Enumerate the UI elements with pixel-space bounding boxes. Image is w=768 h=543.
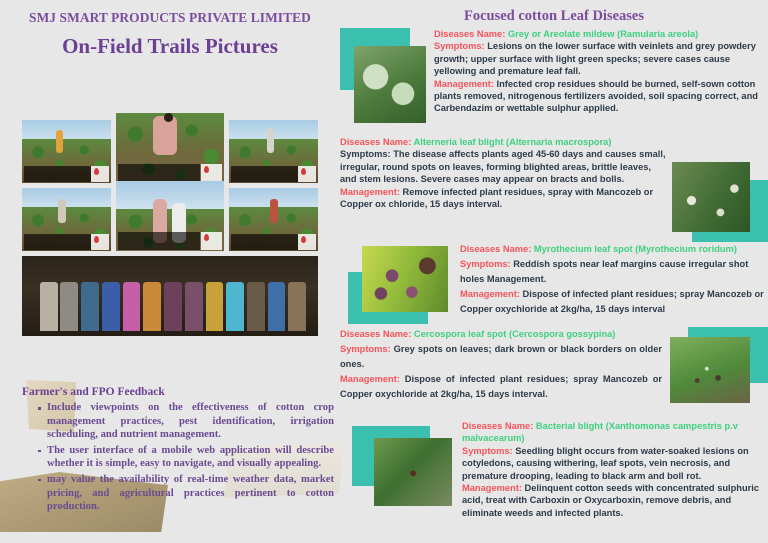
disease-name-value: Grey or Areolate mildew (Ramularia areol… — [508, 29, 698, 39]
disease-name-line: Diseases Name: Myrothecium leaf spot (My… — [460, 242, 768, 257]
person-figure — [185, 282, 203, 332]
label-diseases-name: Diseases Name: — [434, 29, 505, 39]
management-line: Management: Infected crop residues shoul… — [434, 78, 768, 115]
disease-name-line: Diseases Name: Grey or Areolate mildew (… — [434, 28, 768, 40]
disease-name-value: Cercospora leaf spot (Cercospora gossypi… — [414, 329, 616, 339]
list-item: The user interface of a mobile web appli… — [38, 444, 334, 471]
leaf-image — [362, 246, 448, 312]
page-title: On-Field Trails Pictures — [0, 34, 340, 59]
gps-stamp-icon — [298, 166, 316, 182]
feedback-heading: Farmer's and FPO Feedback — [22, 386, 334, 398]
person-figure — [60, 282, 78, 332]
person-figure — [226, 282, 244, 332]
group-photo — [22, 256, 318, 336]
list-item: Include viewpoints on the effectiveness … — [38, 401, 334, 442]
geotag-caption — [24, 234, 91, 250]
field-photo-6 — [229, 188, 318, 251]
label-diseases-name: Diseases Name: — [460, 244, 531, 254]
disease-text: Diseases Name: Myrothecium leaf spot (My… — [460, 242, 768, 317]
field-photo-2 — [116, 113, 224, 183]
label-symptoms: Symptoms: — [340, 149, 391, 159]
disease-photo-myrothecium — [348, 242, 450, 324]
disease-text: Diseases Name: Grey or Areolate mildew (… — [434, 28, 768, 115]
gps-stamp-icon — [201, 232, 223, 250]
management-line: Management: Dispose of infected plant re… — [460, 287, 768, 317]
symptoms-line: Symptoms: Seedling blight occurs from wa… — [462, 445, 768, 482]
field-photo-3 — [229, 120, 318, 183]
leaf-image — [354, 46, 426, 123]
slide-canvas: SMJ SMART PRODUCTS PRIVATE LIMITED On-Fi… — [0, 0, 768, 543]
person-figure — [267, 128, 275, 153]
disease-text: Diseases Name: Bacterial blight (Xanthom… — [462, 420, 768, 519]
leaf-image — [670, 337, 750, 403]
disease-block-bacterial-blight: Diseases Name: Bacterial blight (Xanthom… — [340, 420, 768, 519]
person-figure — [268, 282, 286, 332]
person-figure — [102, 282, 120, 332]
list-item: may value the availability of real-time … — [38, 473, 334, 514]
disease-photo-bacterial-blight — [352, 426, 452, 512]
symptoms-line: Symptoms: The disease affects plants age… — [340, 148, 666, 185]
label-symptoms: Symptoms: — [340, 344, 391, 354]
person-figure — [153, 116, 177, 155]
label-management: Management: — [434, 79, 494, 89]
geotag-caption — [231, 166, 298, 182]
gps-stamp-icon — [298, 234, 316, 250]
disease-photo-alternaria — [672, 162, 768, 242]
field-photo-grid — [22, 120, 318, 341]
disease-name-value: Myrothecium leaf spot (Myrothecium rorid… — [534, 244, 737, 254]
disease-name-line: Diseases Name: Alterneria leaf blight (A… — [340, 136, 666, 148]
person-figure — [40, 282, 58, 332]
geotag-caption — [231, 234, 298, 250]
section-title: Focused cotton Leaf Diseases — [340, 8, 768, 25]
disease-block-cercospora: Diseases Name: Cercospora leaf spot (Cer… — [340, 327, 768, 409]
label-symptoms: Symptoms: — [460, 259, 511, 269]
label-symptoms: Symptoms: — [434, 41, 485, 51]
disease-name-line: Diseases Name: Cercospora leaf spot (Cer… — [340, 327, 662, 342]
person-figure — [288, 282, 306, 332]
label-diseases-name: Diseases Name: — [340, 329, 411, 339]
person-figure — [58, 199, 66, 223]
person-figure — [164, 282, 182, 332]
photo-row-1 — [22, 120, 318, 183]
gps-stamp-icon — [91, 234, 109, 250]
feedback-list: Include viewpoints on the effectiveness … — [22, 401, 334, 514]
photo-row-3 — [22, 256, 318, 336]
gps-stamp-icon — [91, 166, 109, 182]
person-figure — [270, 199, 278, 223]
person-figure — [206, 282, 224, 332]
feedback-section: Farmer's and FPO Feedback Include viewpo… — [22, 386, 334, 526]
field-photo-4 — [22, 188, 111, 251]
photo-row-2 — [22, 188, 318, 251]
sky-band — [116, 181, 224, 210]
person-figure — [247, 282, 265, 332]
person-figure — [56, 130, 63, 153]
geotag-caption — [118, 232, 201, 250]
label-management: Management: — [460, 289, 520, 299]
person-figure — [123, 282, 141, 332]
left-column: SMJ SMART PRODUCTS PRIVATE LIMITED On-Fi… — [0, 0, 340, 543]
management-line: Management: Remove infected plant residu… — [340, 186, 666, 211]
disease-text: Diseases Name: Alterneria leaf blight (A… — [340, 136, 666, 210]
gps-stamp-icon — [201, 164, 223, 182]
label-diseases-name: Diseases Name: — [340, 137, 411, 147]
disease-block-grey-mildew: Diseases Name: Grey or Areolate mildew (… — [340, 28, 768, 123]
geotag-caption — [24, 166, 91, 182]
symptoms-line: Symptoms: Grey spots on leaves; dark bro… — [340, 342, 662, 372]
label-management: Management: — [340, 187, 400, 197]
disease-text: Diseases Name: Cercospora leaf spot (Cer… — [340, 327, 662, 402]
field-photo-5 — [116, 181, 224, 251]
label-management: Management: — [340, 374, 400, 384]
leaf-image — [672, 162, 750, 232]
management-line: Management: Delinquent cotton seeds with… — [462, 482, 768, 519]
person-figure — [143, 282, 161, 332]
leaf-image — [374, 438, 452, 506]
person-figure — [81, 282, 99, 332]
management-line: Management: Dispose of infected plant re… — [340, 372, 662, 402]
label-symptoms: Symptoms: — [462, 446, 513, 456]
disease-name-value: Alterneria leaf blight (Alternaria macro… — [414, 137, 612, 147]
symptoms-line: Symptoms: Reddish spots near leaf margin… — [460, 257, 768, 287]
field-photo-1 — [22, 120, 111, 183]
disease-name-line: Diseases Name: Bacterial blight (Xanthom… — [462, 420, 768, 445]
right-column: Focused cotton Leaf Diseases Diseases Na… — [340, 0, 768, 543]
disease-block-myrothecium: Diseases Name: Myrothecium leaf spot (My… — [340, 242, 768, 324]
geotag-caption — [118, 164, 201, 182]
disease-photo-grey-mildew — [340, 28, 426, 123]
disease-block-alternaria: Diseases Name: Alterneria leaf blight (A… — [340, 136, 768, 242]
label-diseases-name: Diseases Name: — [462, 421, 533, 431]
company-name: SMJ SMART PRODUCTS PRIVATE LIMITED — [0, 10, 340, 26]
label-management: Management: — [462, 483, 522, 493]
disease-photo-cercospora — [670, 327, 768, 409]
symptoms-line: Symptoms: Lesions on the lower surface w… — [434, 40, 768, 77]
